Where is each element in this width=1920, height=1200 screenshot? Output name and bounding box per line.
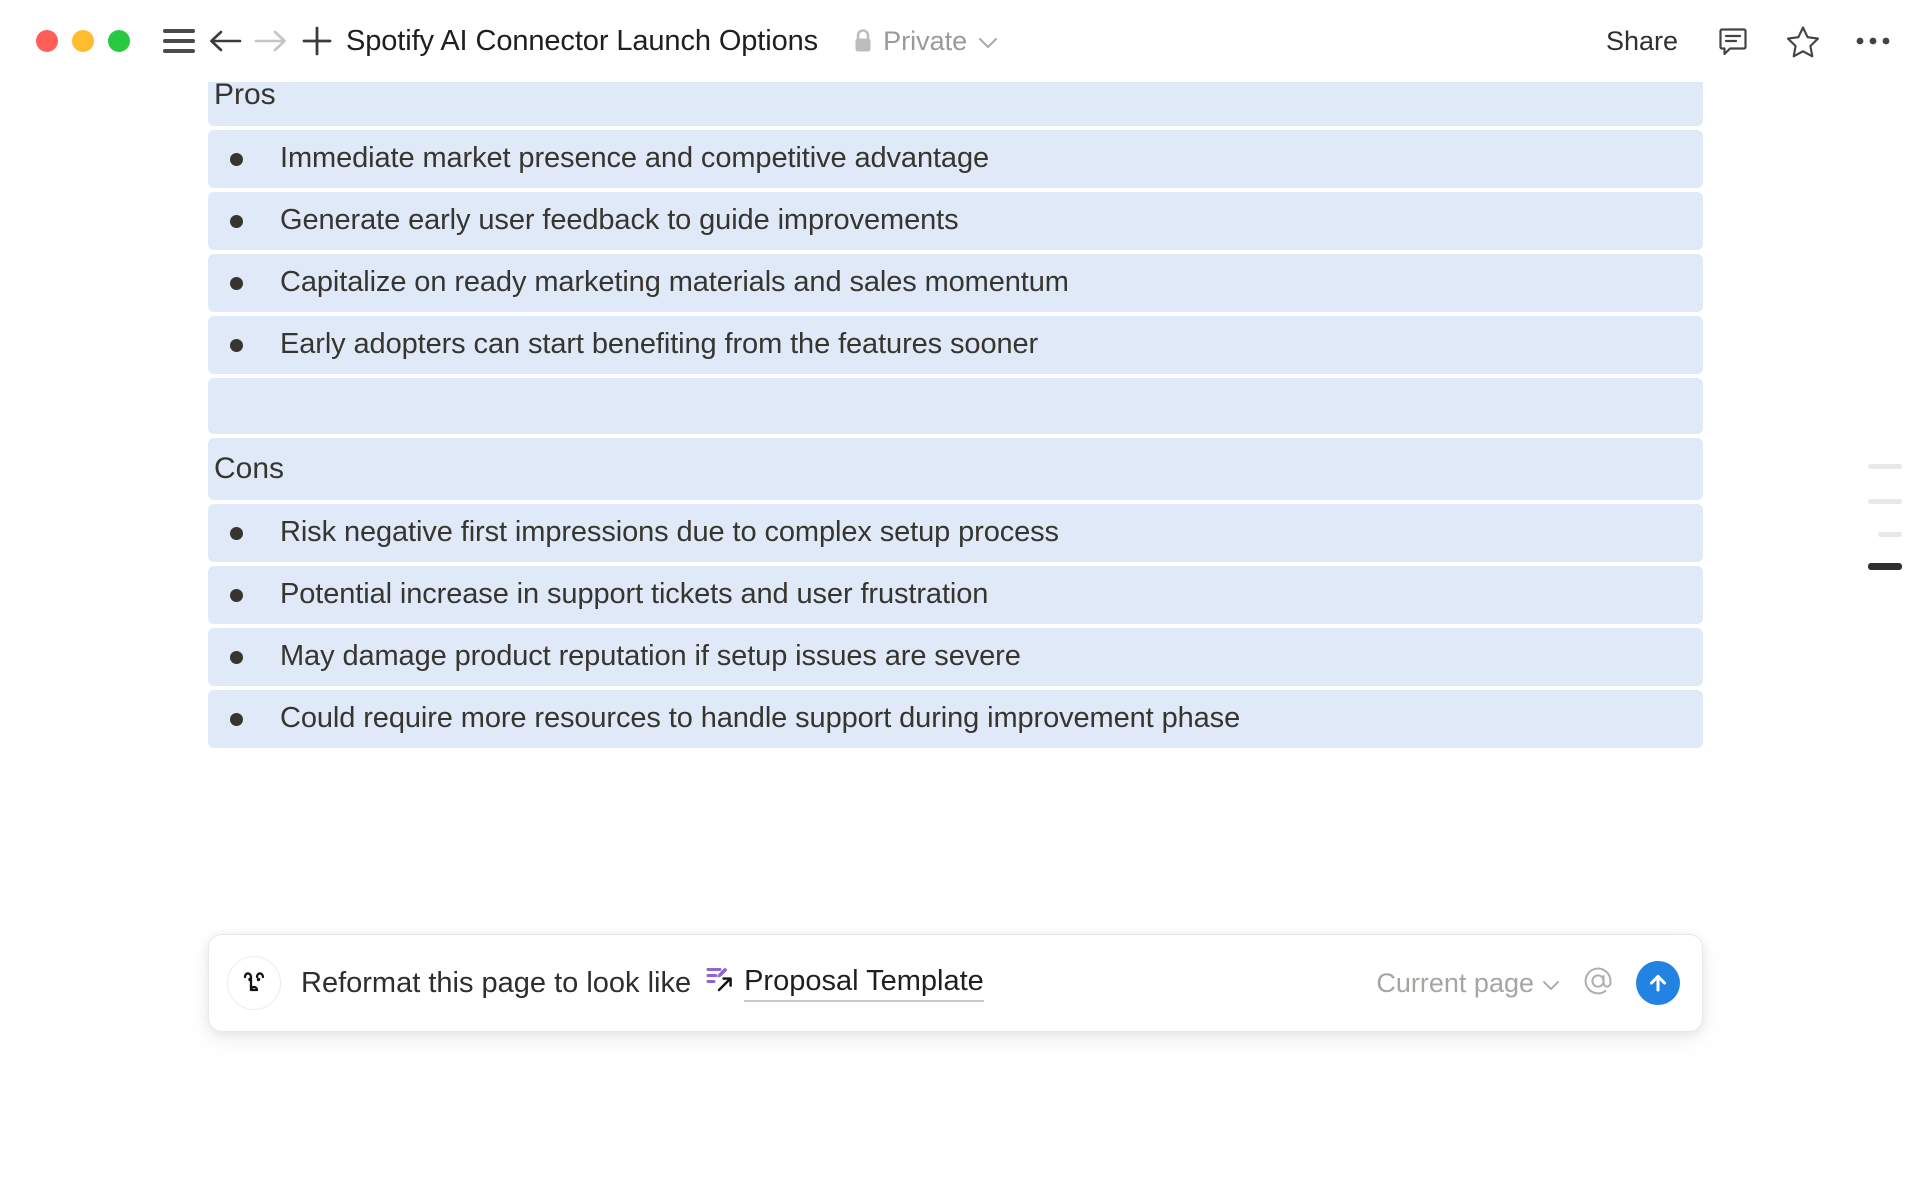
list-item[interactable]: Immediate market presence and competitiv… [208, 130, 1703, 188]
page-minimap-scrollbar[interactable] [1850, 82, 1920, 1200]
bullet-icon [230, 651, 243, 664]
chevron-down-icon [1542, 968, 1560, 999]
comment-icon[interactable] [1710, 18, 1756, 64]
list-item[interactable]: Could require more resources to handle s… [208, 690, 1703, 748]
share-button[interactable]: Share [1598, 22, 1686, 61]
ai-prompt-bar[interactable]: Reformat this page to look like Proposal… [208, 934, 1703, 1032]
ai-scope-label: Current page [1376, 968, 1534, 999]
list-item-label: Could require more resources to handle s… [280, 699, 1240, 738]
list-item[interactable]: Risk negative first impressions due to c… [208, 504, 1703, 562]
privacy-label: Private [883, 26, 967, 57]
page-title: Spotify AI Connector Launch Options [346, 25, 818, 58]
minimap-mark[interactable] [1868, 464, 1902, 469]
notion-ai-face-icon [227, 956, 281, 1010]
empty-block[interactable] [208, 378, 1703, 434]
at-sign-icon[interactable] [1582, 965, 1614, 1002]
document-content: Pros Immediate market presence and compe… [208, 82, 1703, 752]
document-with-pen-icon [705, 964, 735, 1002]
section-heading-label: Pros [212, 82, 276, 112]
list-item[interactable]: Potential increase in support tickets an… [208, 566, 1703, 624]
page-privacy-selector[interactable]: Private [852, 26, 998, 57]
page-canvas: Pros Immediate market presence and compe… [0, 82, 1920, 1200]
arrow-up-circle-icon[interactable] [1636, 961, 1680, 1005]
window-traffic-lights [36, 30, 130, 52]
minimize-window-button[interactable] [72, 30, 94, 52]
bullet-icon [230, 339, 243, 352]
plus-icon[interactable] [294, 18, 340, 64]
maximize-window-button[interactable] [108, 30, 130, 52]
bullet-icon [230, 589, 243, 602]
list-item-label: Immediate market presence and competitiv… [280, 139, 989, 178]
minimap-mark[interactable] [1878, 532, 1902, 537]
titlebar-actions: Share [1598, 18, 1896, 64]
list-item[interactable]: Capitalize on ready marketing materials … [208, 254, 1703, 312]
list-item-label: Potential increase in support tickets an… [280, 575, 988, 614]
list-item[interactable]: Early adopters can start benefiting from… [208, 316, 1703, 374]
list-item-label: Risk negative first impressions due to c… [280, 513, 1059, 552]
ai-prompt-prefix: Reformat this page to look like [301, 967, 691, 1000]
minimap-mark[interactable] [1868, 499, 1902, 504]
page-mention-label: Proposal Template [744, 965, 984, 1002]
ai-prompt-actions: Current page [1376, 961, 1680, 1005]
minimap-mark-active[interactable] [1868, 563, 1902, 570]
ai-prompt-text: Reformat this page to look like Proposal… [301, 964, 984, 1002]
chevron-down-icon [978, 26, 998, 57]
hamburger-menu-icon[interactable] [156, 18, 202, 64]
list-item[interactable]: Generate early user feedback to guide im… [208, 192, 1703, 250]
section-heading-cons[interactable]: Cons [208, 438, 1703, 500]
bullet-icon [230, 153, 243, 166]
arrow-right-icon[interactable] [248, 18, 294, 64]
bullet-icon [230, 713, 243, 726]
star-icon[interactable] [1780, 18, 1826, 64]
list-item-label: Generate early user feedback to guide im… [280, 201, 958, 240]
section-heading-label: Cons [212, 452, 284, 486]
more-horizontal-icon[interactable] [1850, 18, 1896, 64]
close-window-button[interactable] [36, 30, 58, 52]
bullet-icon [230, 215, 243, 228]
bullet-icon [230, 277, 243, 290]
list-item[interactable]: May damage product reputation if setup i… [208, 628, 1703, 686]
arrow-left-icon[interactable] [202, 18, 248, 64]
list-item-label: May damage product reputation if setup i… [280, 637, 1021, 676]
list-item-label: Capitalize on ready marketing materials … [280, 263, 1069, 302]
lock-icon [852, 28, 874, 54]
bullet-icon [230, 527, 243, 540]
section-heading-pros[interactable]: Pros [208, 82, 1703, 126]
window-titlebar: Spotify AI Connector Launch Options Priv… [0, 0, 1920, 82]
list-item-label: Early adopters can start benefiting from… [280, 325, 1038, 364]
page-mention-chip[interactable]: Proposal Template [705, 964, 984, 1002]
ai-scope-selector[interactable]: Current page [1376, 968, 1560, 999]
